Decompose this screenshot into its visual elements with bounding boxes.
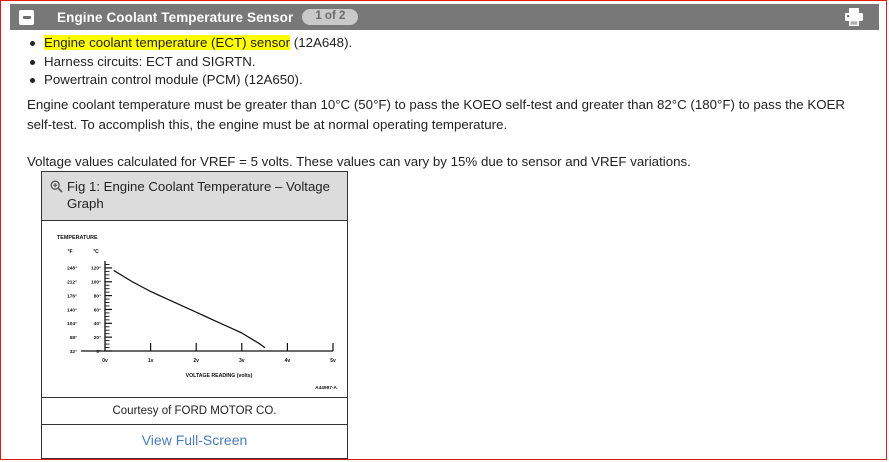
view-fullscreen-button[interactable]: View Full-Screen [42, 424, 347, 458]
chart-y-tick-label-f: 32° [69, 349, 76, 355]
list-item-text: Harness circuits: ECT and SIGRTN. [44, 54, 256, 69]
highlighted-term: Engine coolant temperature (ECT) sensor [44, 35, 290, 50]
chart-x-tick-label: 4v [284, 358, 290, 364]
paragraph-voltage-note: Voltage values calculated for VREF = 5 v… [10, 152, 879, 172]
courtesy-text: Courtesy of FORD MOTOR CO. [112, 405, 276, 417]
list-item-text: Powertrain control module (PCM) (12A650)… [44, 72, 303, 87]
component-list: Engine coolant temperature (ECT) sensor … [10, 34, 879, 90]
paragraph-temperature-requirements: Engine coolant temperature must be great… [10, 95, 879, 135]
figure-caption-text: Fig 1: Engine Coolant Temperature – Volt… [67, 178, 339, 212]
chart-y-tick-label-f: 212° [67, 280, 77, 286]
list-item-text: (12A648). [290, 35, 352, 50]
chart-x-tick-label: 5v [330, 358, 336, 364]
chart-yaxis-unit-c: °C [93, 249, 99, 255]
section-header: Engine Coolant Temperature Sensor 1 of 2 [10, 4, 879, 30]
chart-x-tick-label: 0v [102, 358, 108, 364]
chart-y-tick-label: 0° [96, 349, 101, 355]
figure-image: TEMPERATURE °F °C 0°20°40°60°80°100°120°… [42, 221, 347, 397]
chart-y-tick-label: 120° [91, 266, 101, 272]
chart-yaxis-unit-f: °F [67, 249, 72, 255]
chart-y-tick-label: 60° [93, 307, 100, 313]
chart-y-tick-label: 80° [93, 293, 100, 299]
chart-title: TEMPERATURE [57, 235, 98, 241]
page-title: Engine Coolant Temperature Sensor [57, 10, 293, 25]
chart-y-tick-label: 20° [93, 335, 100, 341]
list-item: Engine coolant temperature (ECT) sensor … [44, 34, 879, 53]
minus-icon [23, 16, 31, 19]
chart-y-tick-label-f: 104° [67, 321, 77, 327]
chart-x-tick-label: 1v [147, 358, 153, 364]
figure-caption-bar[interactable]: Fig 1: Engine Coolant Temperature – Volt… [42, 172, 347, 221]
chart-y-tick-label-f: 140° [67, 307, 77, 313]
chart-y-tick-label-f: 176° [67, 293, 77, 299]
document-content: Engine coolant temperature (ECT) sensor … [10, 32, 879, 172]
print-button[interactable] [843, 7, 865, 27]
chart-y-tick-label-f: 68° [69, 335, 76, 341]
chart-x-tick-label: 3v [239, 358, 245, 364]
view-fullscreen-label: View Full-Screen [142, 432, 248, 448]
collapse-button[interactable] [19, 10, 34, 25]
zoom-in-icon [50, 180, 63, 193]
chart-y-tick-label-f: 248° [67, 266, 77, 272]
printer-icon [843, 7, 865, 27]
ect-voltage-chart: TEMPERATURE °F °C 0°20°40°60°80°100°120°… [45, 225, 345, 393]
document-panel: Engine Coolant Temperature Sensor 1 of 2… [0, 0, 887, 460]
figure-panel: Fig 1: Engine Coolant Temperature – Volt… [41, 171, 348, 459]
list-item: Harness circuits: ECT and SIGRTN. [44, 53, 879, 72]
chart-y-tick-label: 40° [93, 321, 100, 327]
chart-x-tick-label: 2v [193, 358, 199, 364]
chart-x-axis-label: VOLTAGE READING (volts) [185, 373, 252, 379]
chart-figure-code: A44987-A [315, 385, 337, 391]
figure-courtesy: Courtesy of FORD MOTOR CO. [42, 397, 347, 424]
page-count-badge: 1 of 2 [302, 9, 358, 26]
chart-y-tick-label: 100° [91, 280, 101, 286]
list-item: Powertrain control module (PCM) (12A650)… [44, 71, 879, 90]
